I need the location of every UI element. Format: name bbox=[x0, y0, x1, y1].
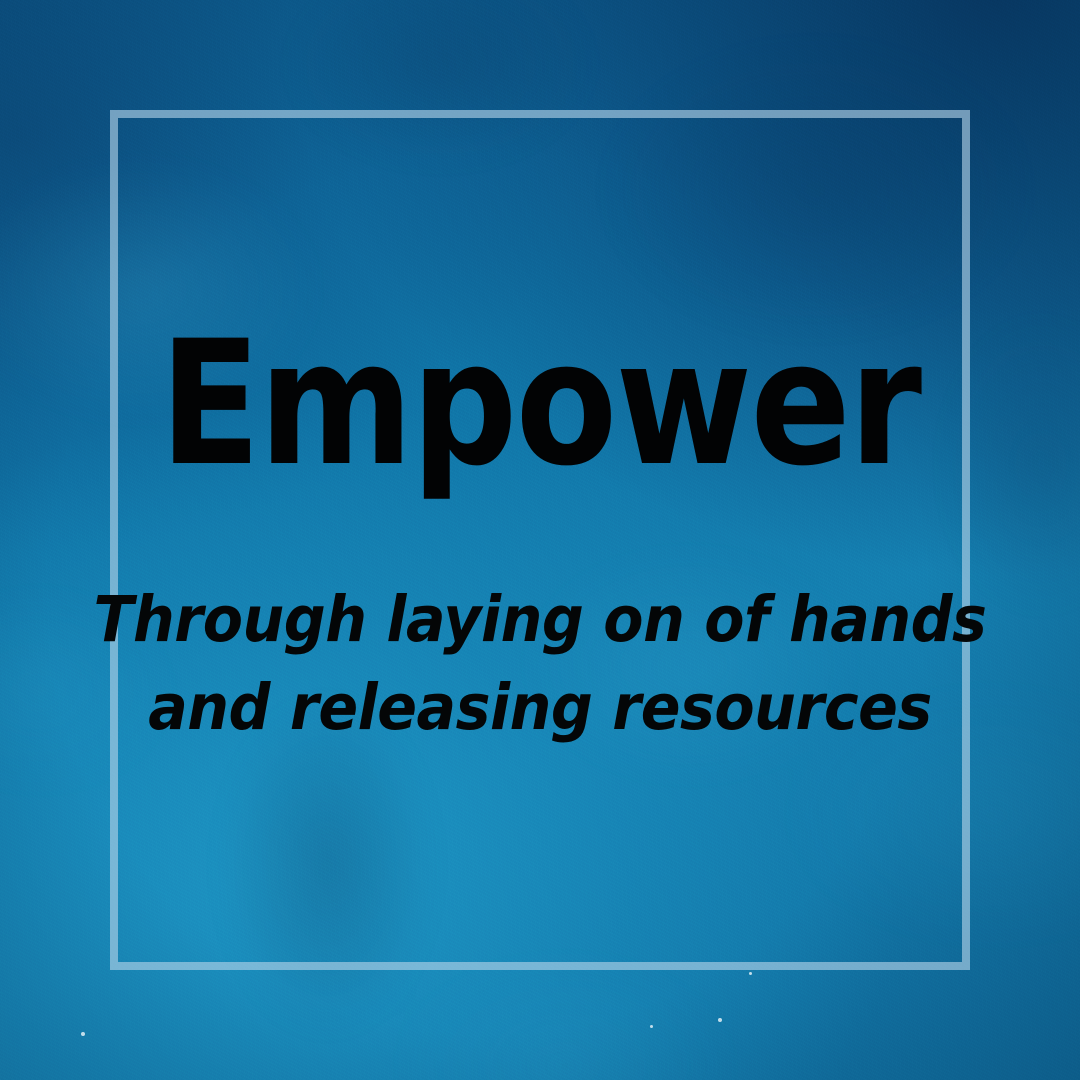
page-subtitle: Through laying on of hands and releasing… bbox=[38, 576, 1042, 752]
poster-canvas: Empower Through laying on of hands and r… bbox=[0, 0, 1080, 1080]
text-content-block: Empower Through laying on of hands and r… bbox=[0, 0, 1080, 1080]
page-title: Empower bbox=[76, 318, 1005, 490]
page-subtitle-line-1: Through laying on of hands bbox=[38, 576, 1042, 664]
page-subtitle-line-2: and releasing resources bbox=[38, 664, 1042, 752]
